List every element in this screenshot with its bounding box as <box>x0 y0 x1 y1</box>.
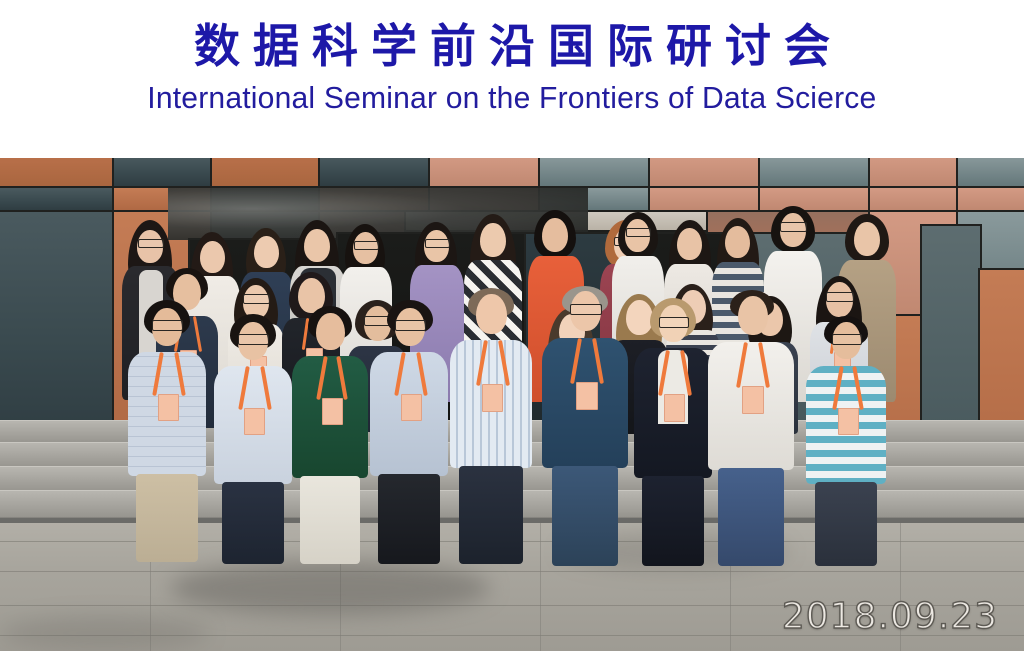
person-front-row <box>292 306 368 564</box>
facade-panel <box>0 158 114 188</box>
facade-panel <box>318 158 430 188</box>
facade-glass-column <box>0 210 114 440</box>
name-badge <box>576 382 598 410</box>
facade-panel <box>538 158 650 188</box>
page-title-chinese: 数据科学前沿国际研讨会 <box>181 22 843 72</box>
name-badge <box>838 408 859 435</box>
person-front-row <box>708 290 794 566</box>
facade-panel <box>210 158 320 188</box>
name-badge <box>322 398 343 425</box>
facade-panel <box>0 186 114 212</box>
name-badge <box>158 394 179 421</box>
facade-panel <box>758 158 870 188</box>
name-badge <box>244 408 265 435</box>
poster-banner: 数据科学前沿国际研讨会 International Seminar on the… <box>0 0 1024 158</box>
person-front-row <box>450 288 532 564</box>
person-front-row <box>128 300 206 562</box>
person-front-row <box>806 316 886 566</box>
facade-panel <box>868 158 958 188</box>
page-subtitle-english: International Seminar on the Frontiers o… <box>147 80 876 116</box>
person-front-row <box>214 314 292 564</box>
person-front-row <box>370 300 448 564</box>
facade-panel <box>112 158 212 188</box>
name-badge <box>401 394 422 421</box>
photo-date-stamp: 2018.09.23 <box>782 596 998 637</box>
name-badge <box>482 384 503 412</box>
seminar-group-photo-poster: 数据科学前沿国际研讨会 International Seminar on the… <box>0 0 1024 651</box>
group-photograph: 2018.09.23 <box>0 158 1024 651</box>
person-front-row <box>542 286 628 566</box>
person-front-row <box>634 298 712 566</box>
name-badge <box>664 394 685 422</box>
facade-panel <box>956 186 1024 212</box>
facade-panel <box>648 186 760 212</box>
name-badge <box>742 386 764 414</box>
facade-panel <box>956 158 1024 188</box>
facade-panel <box>868 186 958 212</box>
facade-panel <box>648 158 760 188</box>
facade-panel <box>428 158 540 188</box>
